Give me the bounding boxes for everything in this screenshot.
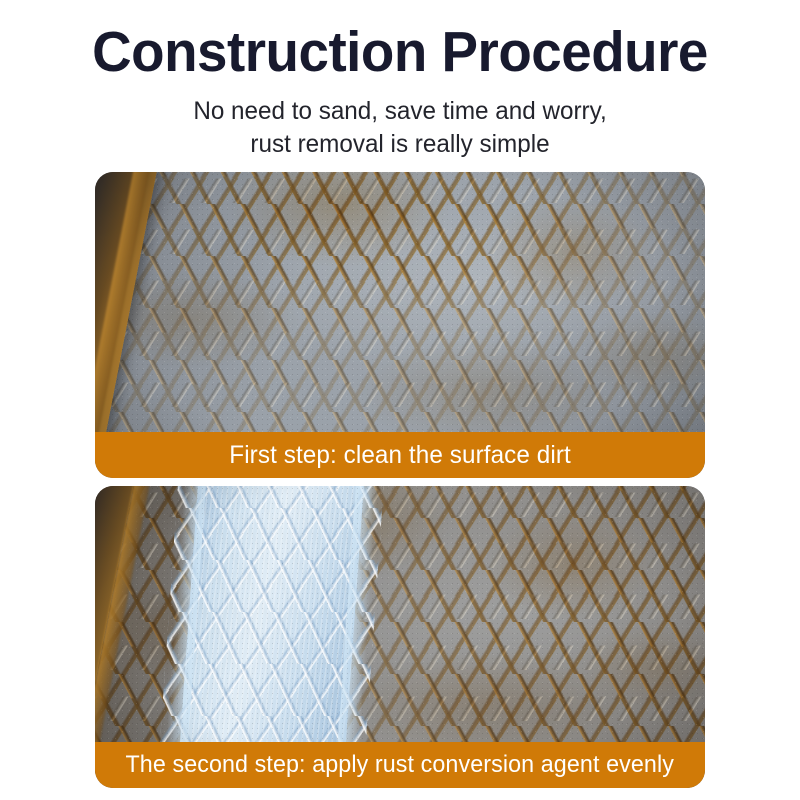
step-2-caption-text: The second step: apply rust conversion a… <box>126 751 674 779</box>
page-title: Construction Procedure <box>16 24 784 81</box>
step-1-caption-text: First step: clean the surface dirt <box>229 441 571 470</box>
header: Construction Procedure No need to sand, … <box>0 0 800 161</box>
step-2-panel: The second step: apply rust conversion a… <box>95 486 705 788</box>
step-1-panel: First step: clean the surface dirt <box>95 172 705 478</box>
page-subtitle: No need to sand, save time and worry, ru… <box>12 95 788 161</box>
subtitle-line-2: rust removal is really simple <box>12 128 788 161</box>
step-2-caption-bar: The second step: apply rust conversion a… <box>95 742 705 788</box>
product-infographic-page: Construction Procedure No need to sand, … <box>0 0 800 800</box>
subtitle-line-1: No need to sand, save time and worry, <box>12 95 788 128</box>
step-1-caption-bar: First step: clean the surface dirt <box>95 432 705 478</box>
